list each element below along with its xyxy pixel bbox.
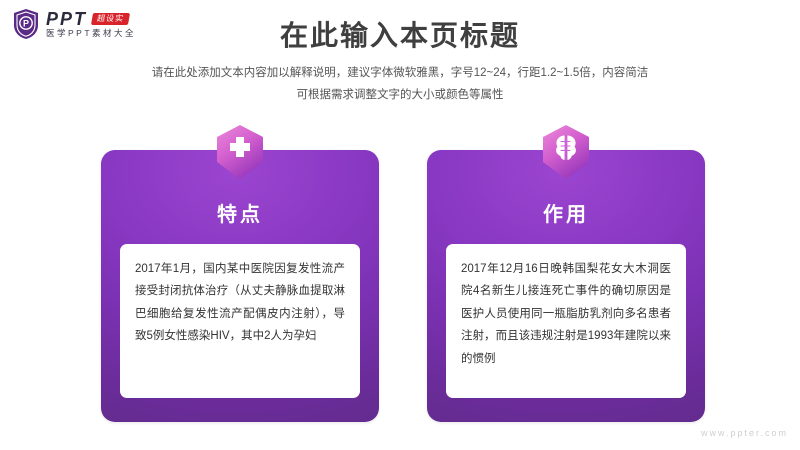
card-text-panel: 2017年1月，国内某中医院因复发性流产接受封闭抗体治疗（从丈夫静脉血提取淋巴细…: [120, 244, 360, 398]
site-watermark: www.ppter.com: [701, 428, 788, 438]
card-text-panel: 2017年12月16日晚韩国梨花女大木洞医院4名新生儿接连死亡事件的确切原因是医…: [446, 244, 686, 398]
page-title: 在此输入本页标题: [0, 14, 800, 54]
medical-cross-icon: [214, 124, 266, 182]
page-subtitle-line-2: 可根据需求调整文字的大小或颜色等属性: [0, 85, 800, 107]
page-subtitle: 请在此处添加文本内容加以解释说明，建议字体微软雅黑，字号12~24，行距1.2~…: [0, 63, 800, 107]
brain-icon: [540, 124, 592, 182]
card-heading: 作用: [427, 198, 705, 227]
card-body-text: 2017年1月，国内某中医院因复发性流产接受封闭抗体治疗（从丈夫静脉血提取淋巴细…: [135, 258, 345, 348]
page-subtitle-line-1: 请在此处添加文本内容加以解释说明，建议字体微软雅黑，字号12~24，行距1.2~…: [0, 63, 800, 85]
content-card-features[interactable]: 特点 2017年1月，国内某中医院因复发性流产接受封闭抗体治疗（从丈夫静脉血提取…: [101, 150, 379, 422]
content-card-effects[interactable]: 作用 2017年12月16日晚韩国梨花女大木洞医院4名新生儿接连死亡事件的确切原…: [427, 150, 705, 422]
card-heading: 特点: [101, 198, 379, 227]
card-body-text: 2017年12月16日晚韩国梨花女大木洞医院4名新生儿接连死亡事件的确切原因是医…: [461, 258, 671, 370]
